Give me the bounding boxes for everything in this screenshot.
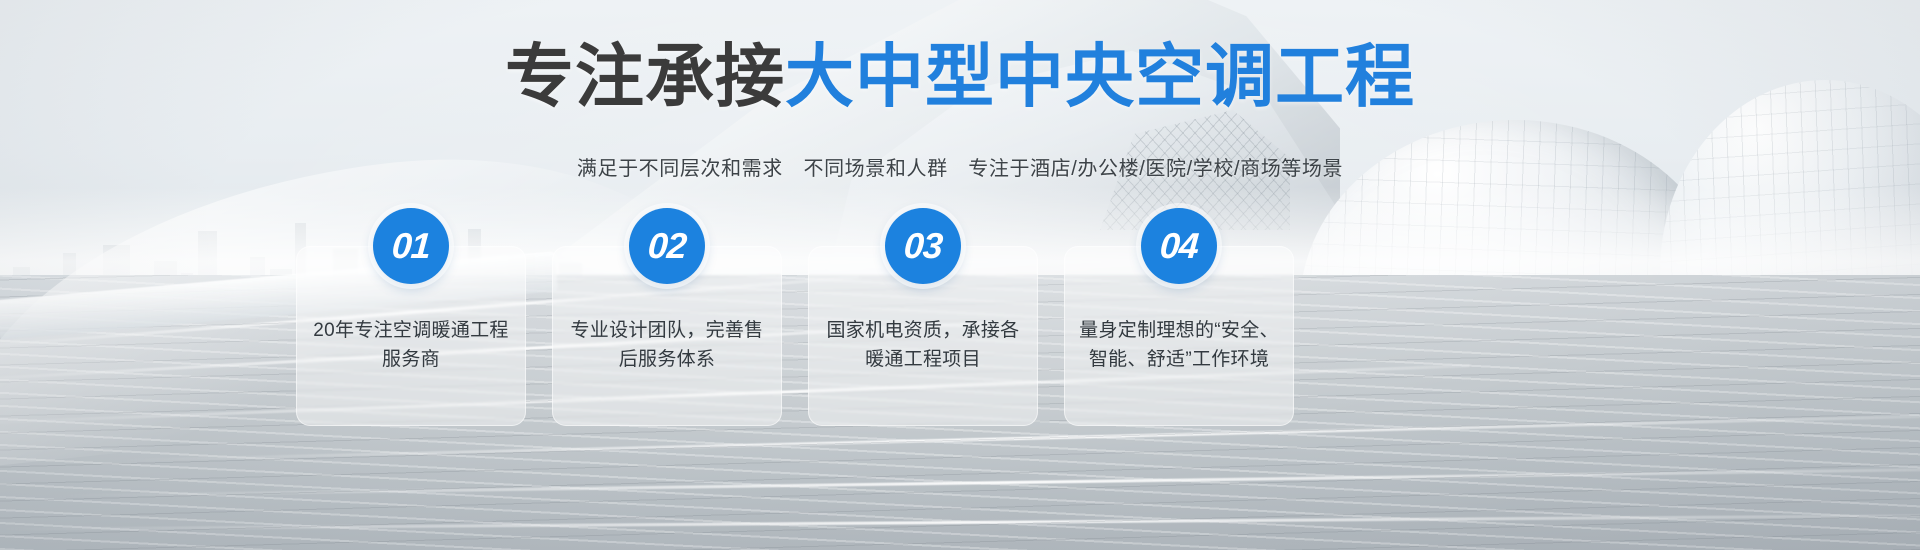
banner-headline: 专注承接大中型中央空调工程 (0, 42, 1920, 111)
card-number-label: 03 (903, 225, 944, 267)
card-number-label: 01 (391, 225, 432, 267)
headline-blue-text: 大中型中央空调工程 (785, 38, 1415, 115)
card-number-badge: 03 (885, 208, 961, 284)
card-description: 专业设计团队，完善售后服务体系 (566, 316, 768, 375)
card-number-badge: 01 (373, 208, 449, 284)
feature-card[interactable]: 01 20年专注空调暖通工程服务商 (296, 246, 526, 426)
card-number-label: 04 (1159, 225, 1200, 267)
headline-dark-text: 专注承接 (505, 38, 785, 115)
card-number-badge: 02 (629, 208, 705, 284)
feature-card[interactable]: 02 专业设计团队，完善售后服务体系 (552, 246, 782, 426)
banner-subtitle: 满足于不同层次和需求 不同场景和人群 专注于酒店/办公楼/医院/学校/商场等场景 (0, 152, 1920, 181)
feature-card[interactable]: 04 量身定制理想的“安全、智能、舒适”工作环境 (1064, 246, 1294, 426)
card-description: 国家机电资质，承接各暖通工程项目 (822, 316, 1024, 375)
card-number-badge: 04 (1141, 208, 1217, 284)
card-number-label: 02 (647, 225, 688, 267)
hero-banner: 专注承接大中型中央空调工程 满足于不同层次和需求 不同场景和人群 专注于酒店/办… (0, 0, 1920, 550)
card-description: 量身定制理想的“安全、智能、舒适”工作环境 (1078, 316, 1280, 375)
feature-card-list: 01 20年专注空调暖通工程服务商 02 专业设计团队，完善售后服务体系 03 … (296, 246, 1294, 426)
feature-card[interactable]: 03 国家机电资质，承接各暖通工程项目 (808, 246, 1038, 426)
card-description: 20年专注空调暖通工程服务商 (310, 316, 512, 375)
